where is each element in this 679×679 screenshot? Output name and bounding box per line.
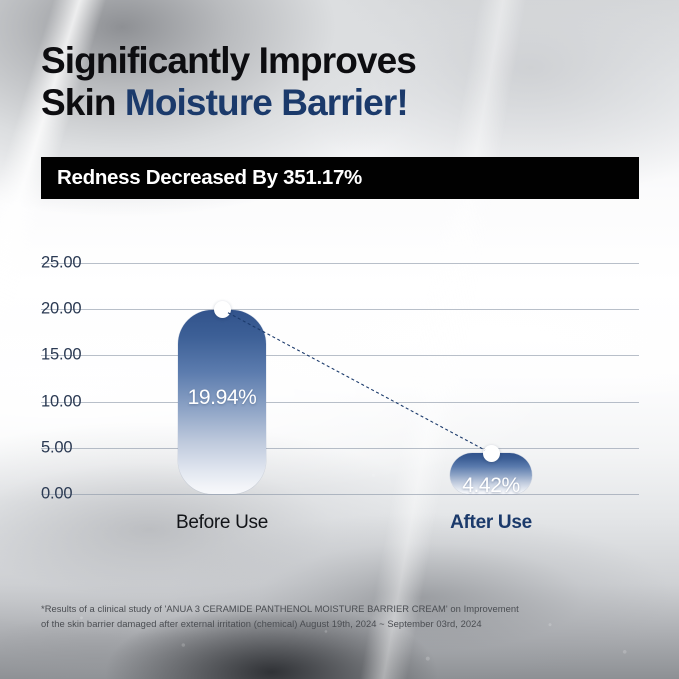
x-axis-label-before-use: Before Use <box>122 512 322 534</box>
y-axis-tick-label: 10.00 <box>41 392 107 411</box>
headline-line-2: Skin Moisture Barrier! <box>41 82 641 124</box>
x-axis-label-after-use: After Use <box>391 512 591 534</box>
footnote: *Results of a clinical study of 'ANUA 3 … <box>41 601 641 631</box>
gridline <box>41 355 639 356</box>
y-axis-tick-label: 25.00 <box>41 254 107 273</box>
bar-value-label: 19.94% <box>178 386 266 410</box>
gridline <box>41 309 639 310</box>
stat-banner: Redness Decreased By 351.17% <box>41 157 639 199</box>
footnote-line-2: of the skin barrier damaged after extern… <box>41 616 641 631</box>
gridline <box>41 263 639 264</box>
y-axis-tick-label: 5.00 <box>41 438 107 457</box>
y-axis-tick-label: 20.00 <box>41 300 107 319</box>
footnote-line-1: *Results of a clinical study of 'ANUA 3 … <box>41 601 641 616</box>
gridline <box>41 402 639 403</box>
headline-line-2-plain: Skin <box>41 82 125 123</box>
data-point-marker <box>483 445 500 462</box>
y-axis-tick-label: 15.00 <box>41 346 107 365</box>
gridline <box>41 494 639 495</box>
stat-banner-text: Redness Decreased By 351.17% <box>41 166 362 190</box>
headline-line-1: Significantly Improves <box>41 40 641 82</box>
gridline <box>41 448 639 449</box>
infographic-page: Significantly Improves Skin Moisture Bar… <box>0 0 679 679</box>
data-point-marker <box>214 301 231 318</box>
headline-line-2-accent: Moisture Barrier! <box>125 82 408 123</box>
page-title: Significantly Improves Skin Moisture Bar… <box>41 40 641 124</box>
bar-before-use <box>178 310 266 494</box>
bar-after-use <box>450 453 532 494</box>
bar-value-label: 4.42% <box>450 474 532 498</box>
y-axis-tick-label: 0.00 <box>41 485 107 504</box>
